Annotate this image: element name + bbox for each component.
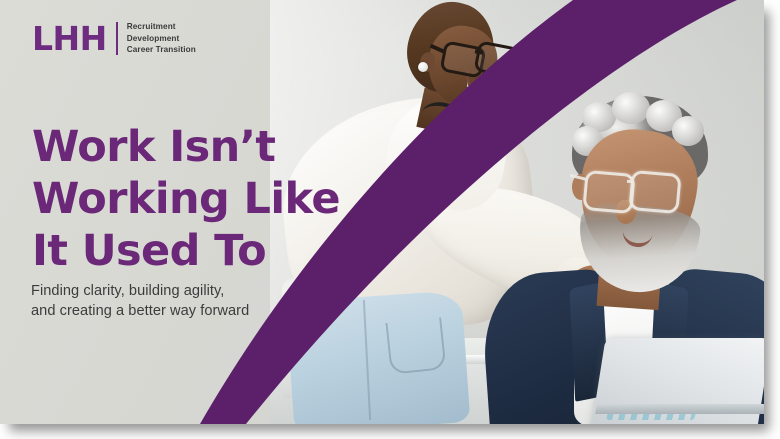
logo-tagline-line-1: Recruitment [127, 22, 196, 33]
woman-button-bottom [440, 178, 448, 186]
man-glasses-bridge [627, 180, 634, 184]
laptop-hinge [595, 404, 764, 414]
presentation-slide: LHH Recruitment Development Career Trans… [0, 0, 764, 424]
man-glasses-right-lens [628, 170, 681, 214]
headline-line-3: It Used To [32, 225, 352, 277]
page-title: Work Isn’t Working Like It Used To [32, 121, 352, 277]
screenshot-canvas: LHH Recruitment Development Career Trans… [0, 0, 780, 439]
logo-tagline: Recruitment Development Career Transitio… [127, 22, 196, 56]
logo-tagline-line-2: Development [127, 34, 196, 45]
woman-jeans-pocket [385, 317, 446, 375]
subtitle: Finding clarity, building agility, and c… [31, 281, 341, 322]
woman-button-top [440, 138, 448, 146]
subtitle-line-1: Finding clarity, building agility, [31, 281, 341, 302]
headline-line-2: Working Like [32, 173, 352, 225]
woman-button-middle [440, 158, 448, 166]
headline-line-1: Work Isn’t [32, 121, 352, 173]
lhh-logo: LHH Recruitment Development Career Trans… [32, 22, 196, 56]
logo-wordmark: LHH [32, 22, 107, 55]
logo-divider-rule [116, 22, 118, 55]
woman-earring [418, 62, 428, 72]
man-glasses-left-lens [582, 170, 635, 214]
man-hair-tuft [612, 92, 650, 124]
subtitle-line-2: and creating a better way forward [31, 301, 341, 322]
logo-tagline-line-3: Career Transition [127, 45, 196, 56]
